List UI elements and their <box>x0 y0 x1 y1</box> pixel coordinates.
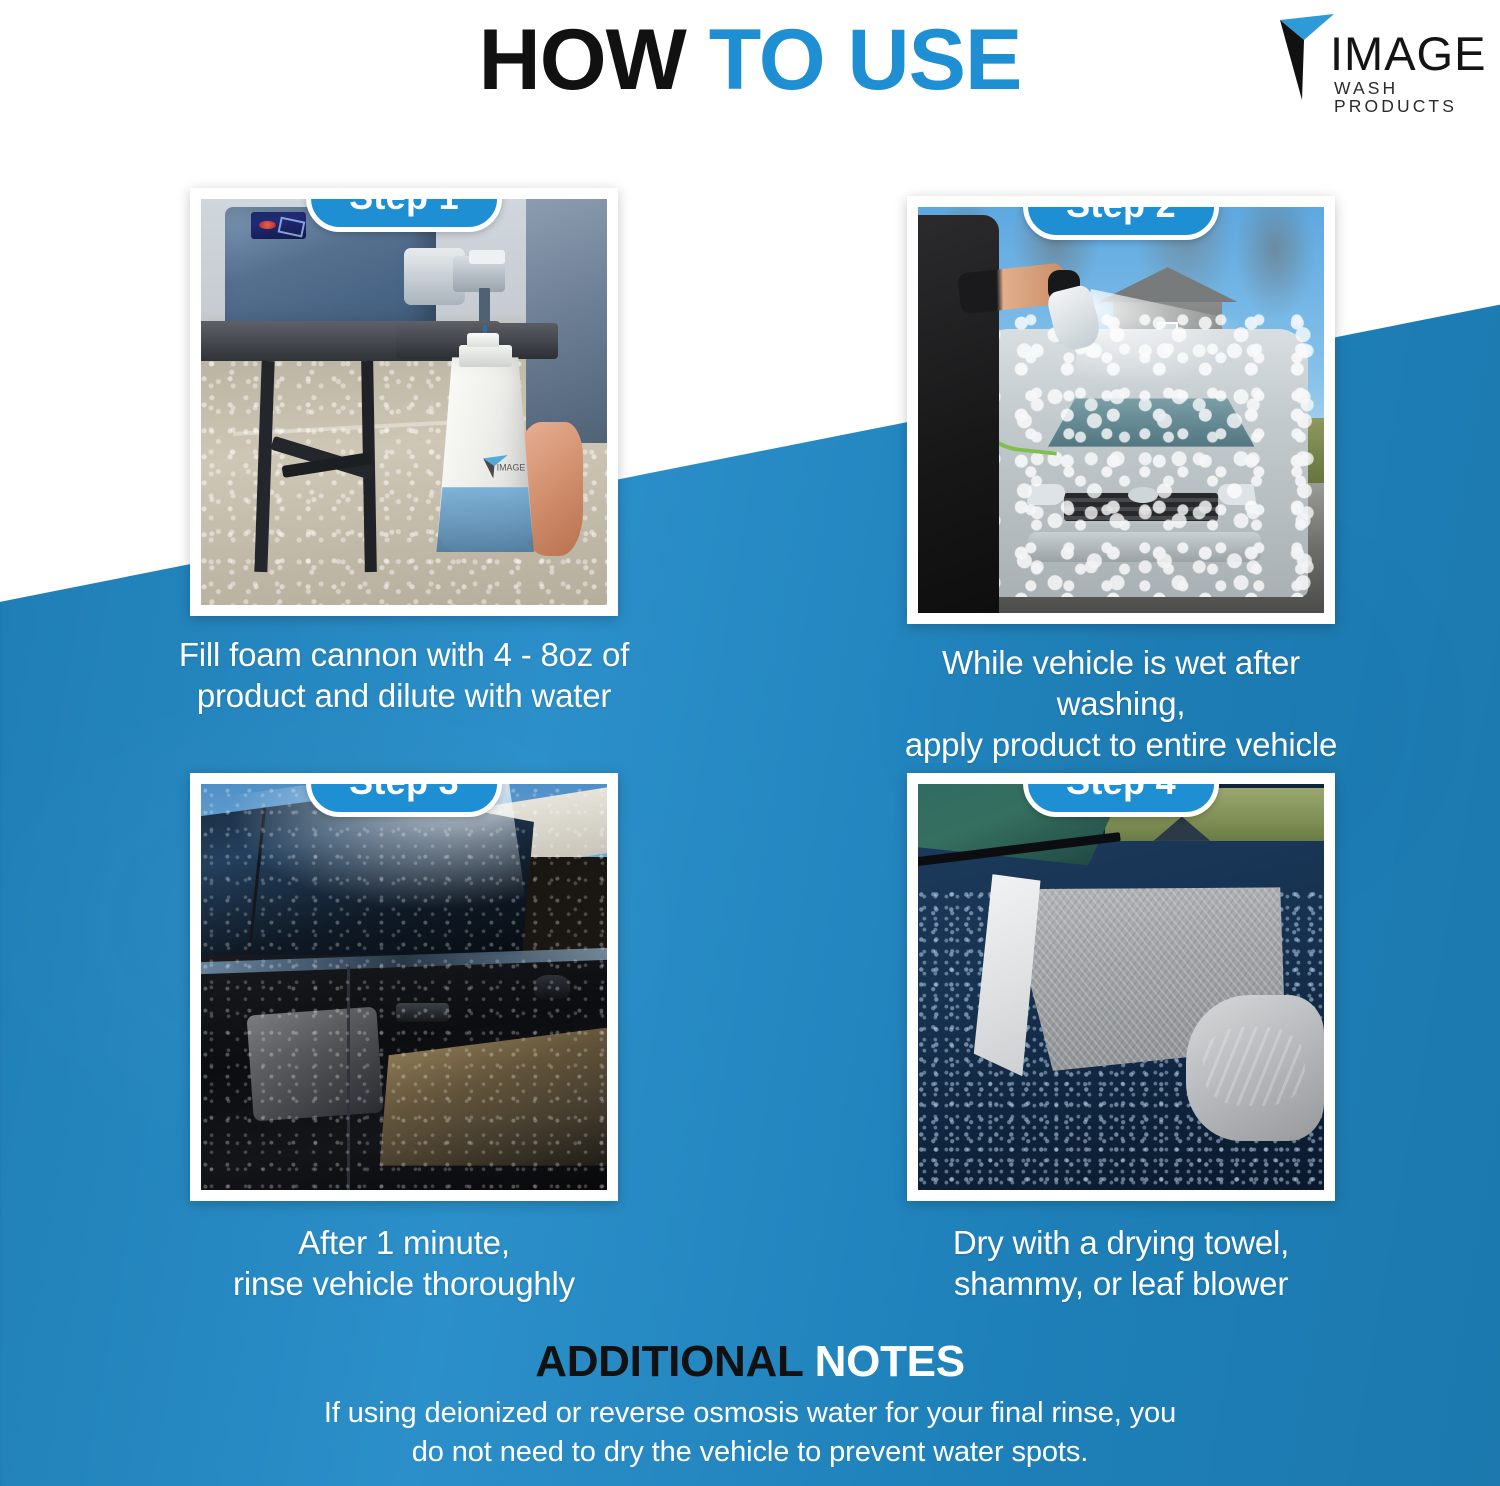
additional-notes-title: ADDITIONAL NOTES <box>0 1338 1500 1386</box>
step-card-2: Step 2 <box>907 196 1335 766</box>
steps-grid: Step 1 <box>0 0 1500 1486</box>
additional-notes-section: ADDITIONAL NOTES If using deionized or r… <box>0 1338 1500 1471</box>
step-2-badge: Step 2 <box>1023 196 1219 240</box>
step-1-photo: IMAGE <box>201 199 607 605</box>
step-card-3: Step 3 After 1 mi <box>190 773 618 1305</box>
how-to-use-infographic: HOW TO USE IMAGE WASH PRODUCTS Step 1 <box>0 0 1500 1486</box>
step-3-photo <box>201 784 607 1190</box>
step-3-badge: Step 3 <box>306 773 502 817</box>
step-4-photo <box>918 784 1324 1190</box>
step-4-badge: Step 4 <box>1023 773 1219 817</box>
step-1-photo-frame: Step 1 <box>190 188 618 616</box>
step-4-caption: Dry with a drying towel, shammy, or leaf… <box>881 1223 1361 1305</box>
step-2-caption: While vehicle is wet after washing, appl… <box>881 643 1361 766</box>
step-2-caption-line-2: apply product to entire vehicle <box>881 725 1361 766</box>
step-3-caption: After 1 minute, rinse vehicle thoroughly <box>164 1223 644 1305</box>
notes-title-part-1: ADDITIONAL <box>535 1337 814 1386</box>
step-3-caption-line-1: After 1 minute, <box>164 1223 644 1264</box>
step-1-badge: Step 1 <box>306 188 502 232</box>
svg-text:IMAGE: IMAGE <box>497 462 526 472</box>
step-card-4: Step 4 Dry with a drying towel, <box>907 773 1335 1305</box>
step-2-caption-line-1: While vehicle is wet after washing, <box>881 643 1361 725</box>
notes-title-part-2: NOTES <box>815 1337 965 1386</box>
step-2-photo-frame: Step 2 <box>907 196 1335 624</box>
bottle-image-logo-icon: IMAGE <box>481 447 526 488</box>
additional-notes-body: If using deionized or reverse osmosis wa… <box>0 1394 1500 1471</box>
step-3-caption-line-2: rinse vehicle thoroughly <box>164 1264 644 1305</box>
step-4-caption-line-2: shammy, or leaf blower <box>881 1264 1361 1305</box>
step-3-photo-frame: Step 3 <box>190 773 618 1201</box>
step-card-1: Step 1 <box>190 188 618 717</box>
step-4-caption-line-1: Dry with a drying towel, <box>881 1223 1361 1264</box>
step-1-caption-line-2: product and dilute with water <box>164 676 644 717</box>
notes-body-line-2: do not need to dry the vehicle to preven… <box>0 1433 1500 1471</box>
notes-body-line-1: If using deionized or reverse osmosis wa… <box>0 1394 1500 1432</box>
step-2-photo <box>918 207 1324 613</box>
step-1-caption-line-1: Fill foam cannon with 4 - 8oz of <box>164 635 644 676</box>
step-4-photo-frame: Step 4 <box>907 773 1335 1201</box>
step-1-caption: Fill foam cannon with 4 - 8oz of product… <box>164 635 644 717</box>
